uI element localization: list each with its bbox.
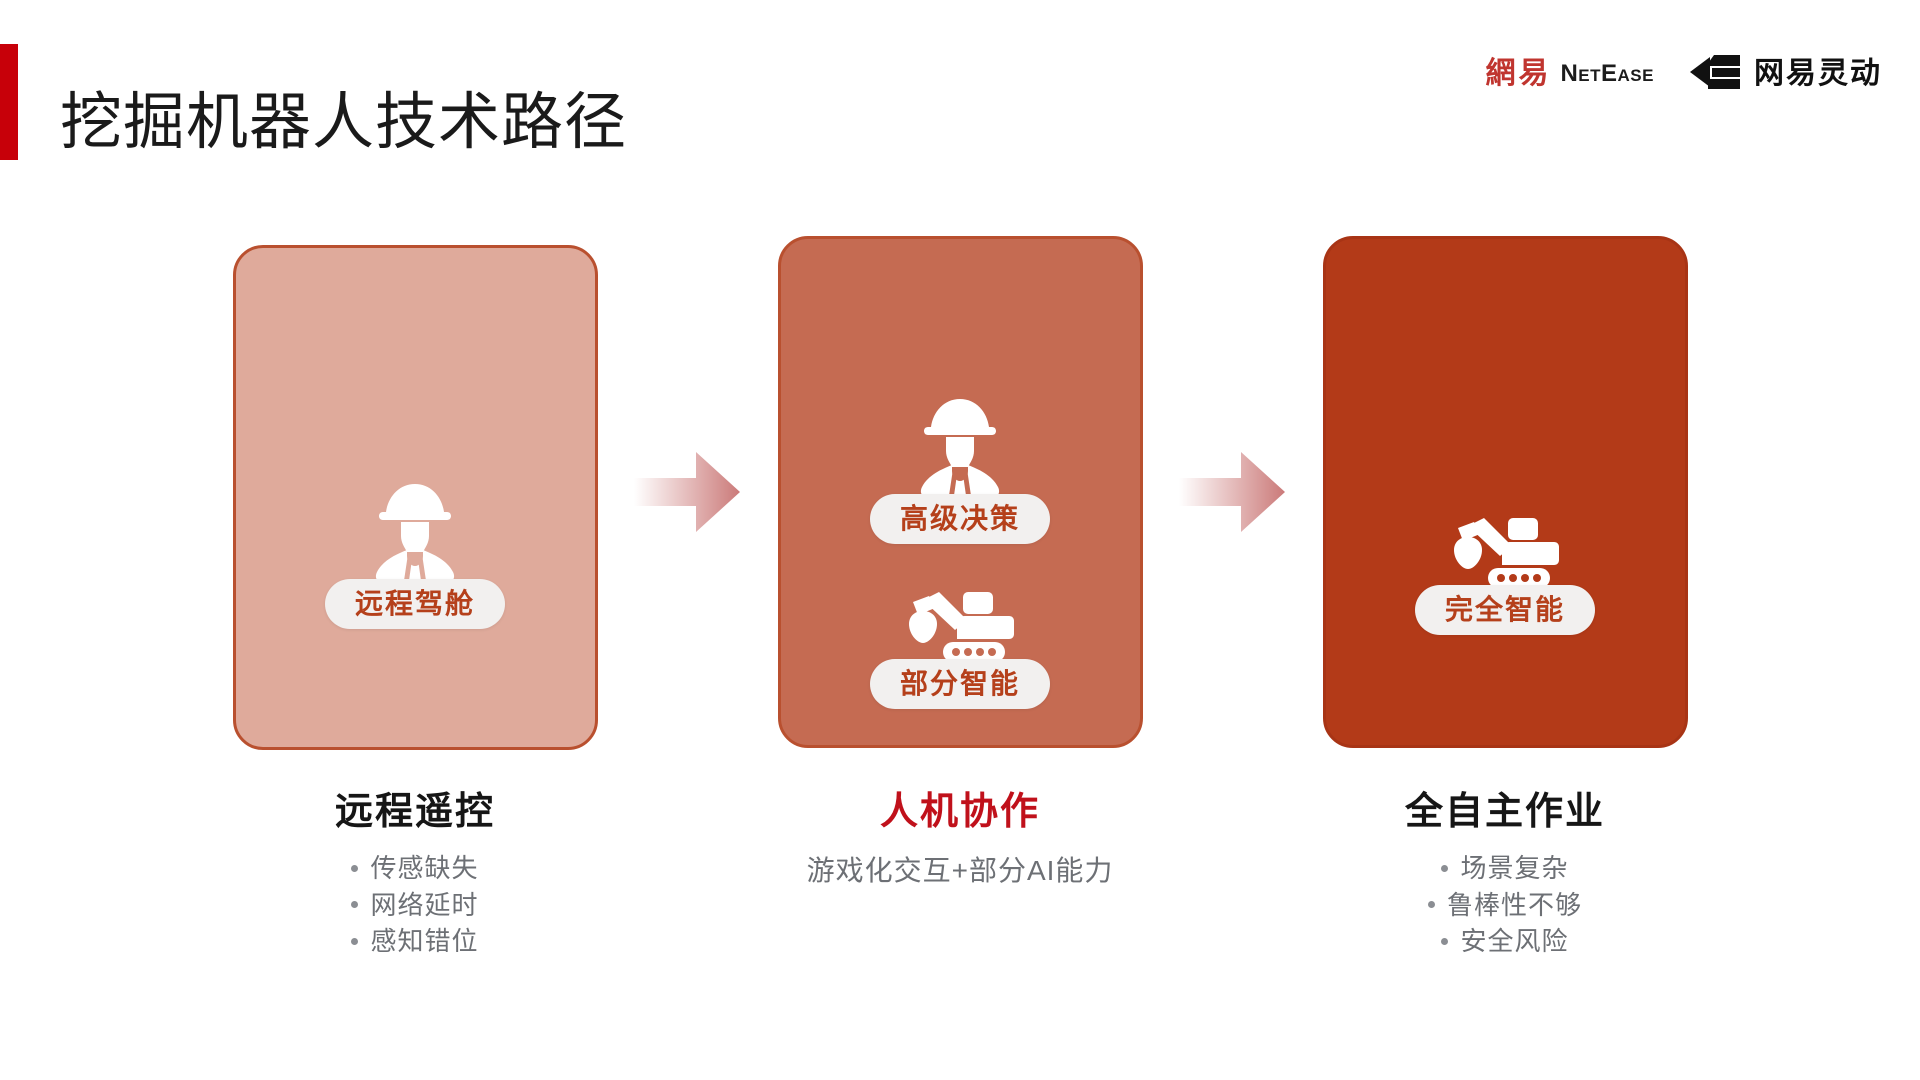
bullet-text: 传感缺失: [370, 850, 478, 887]
caption-stage-1: 远程遥控 传感缺失 网络延时 感知错位: [233, 790, 598, 1040]
caption-title-remote-control: 远程遥控: [233, 790, 598, 836]
caption-spacer: [598, 790, 778, 1040]
lingdong-cn-logotype: 网易灵动: [1754, 59, 1882, 89]
netease-logo: 網易 NetEase: [1485, 59, 1654, 89]
stage-badge-partial-intelligence: 部分智能: [870, 659, 1050, 709]
bullet-text: 鲁棒性不够: [1447, 887, 1582, 924]
bullet-list-stage-1: 传感缺失 网络延时 感知错位: [233, 850, 598, 961]
list-item: 鲁棒性不够: [1428, 887, 1582, 924]
stage-badge-full-intelligence: 完全智能: [1415, 585, 1595, 635]
worker-icon: [912, 395, 1008, 504]
stage-badge-remote-cockpit: 远程驾舱: [325, 579, 505, 629]
stage-badge-advanced-decision: 高级决策: [870, 494, 1050, 544]
caption-stage-2: 人机协作 游戏化交互+部分AI能力: [778, 790, 1143, 1040]
page-title: 挖掘机器人技术路径: [60, 84, 627, 162]
icon-group-worker: 高级决策: [870, 395, 1050, 544]
caption-title-full-autonomy: 全自主作业: [1323, 790, 1688, 836]
title-accent-bar: [0, 44, 18, 160]
caption-subtitle-human-machine: 游戏化交互+部分AI能力: [778, 852, 1143, 890]
list-item: 感知错位: [351, 923, 478, 960]
list-item: 网络延时: [351, 887, 478, 924]
netease-cn-logotype: 網易: [1485, 59, 1551, 89]
icon-group-excavator: 部分智能: [870, 586, 1050, 709]
flow-arrow-1: [634, 236, 742, 748]
stage-card-full-autonomy[interactable]: 完全智能: [1323, 236, 1688, 748]
netease-en-logotype: NetEase: [1560, 62, 1654, 86]
stage-card-remote-control[interactable]: 远程驾舱: [233, 245, 598, 750]
caption-stage-3: 全自主作业 场景复杂 鲁棒性不够 安全风险: [1323, 790, 1688, 1040]
bullet-text: 安全风险: [1460, 923, 1568, 960]
list-item: 安全风险: [1441, 923, 1568, 960]
icon-group-excavator: 完全智能: [1415, 512, 1595, 635]
bullet-dot-icon: [351, 938, 358, 945]
bullet-text: 网络延时: [370, 887, 478, 924]
bullet-list-stage-3: 场景复杂 鲁棒性不够 安全风险: [1323, 850, 1688, 961]
caption-spacer: [1143, 790, 1323, 1040]
bullet-text: 感知错位: [370, 923, 478, 960]
bullet-dot-icon: [1428, 901, 1435, 908]
technology-path-flow: 远程驾舱 高: [0, 236, 1920, 796]
brand-logos: 網易 NetEase 网易灵动: [1485, 52, 1882, 96]
bullet-dot-icon: [1441, 865, 1448, 872]
stage-captions: 远程遥控 传感缺失 网络延时 感知错位 人机协作 游戏化交互+部分AI能力 全自…: [0, 790, 1920, 1040]
list-item: 传感缺失: [351, 850, 478, 887]
worker-icon: [367, 480, 463, 589]
list-item: 场景复杂: [1441, 850, 1568, 887]
excavator-icon: [1450, 512, 1560, 595]
icon-group-worker: 远程驾舱: [325, 480, 505, 629]
bullet-text: 场景复杂: [1460, 850, 1568, 887]
bullet-dot-icon: [351, 901, 358, 908]
stage-card-human-machine[interactable]: 高级决策 部分智能: [778, 236, 1143, 748]
lingdong-arrow-icon: [1688, 55, 1742, 94]
flow-arrow-2: [1179, 236, 1287, 748]
bullet-dot-icon: [1441, 938, 1448, 945]
excavator-icon: [905, 586, 1015, 669]
lingdong-logo: 网易灵动: [1688, 55, 1882, 94]
caption-title-human-machine: 人机协作: [778, 790, 1143, 836]
bullet-dot-icon: [351, 865, 358, 872]
